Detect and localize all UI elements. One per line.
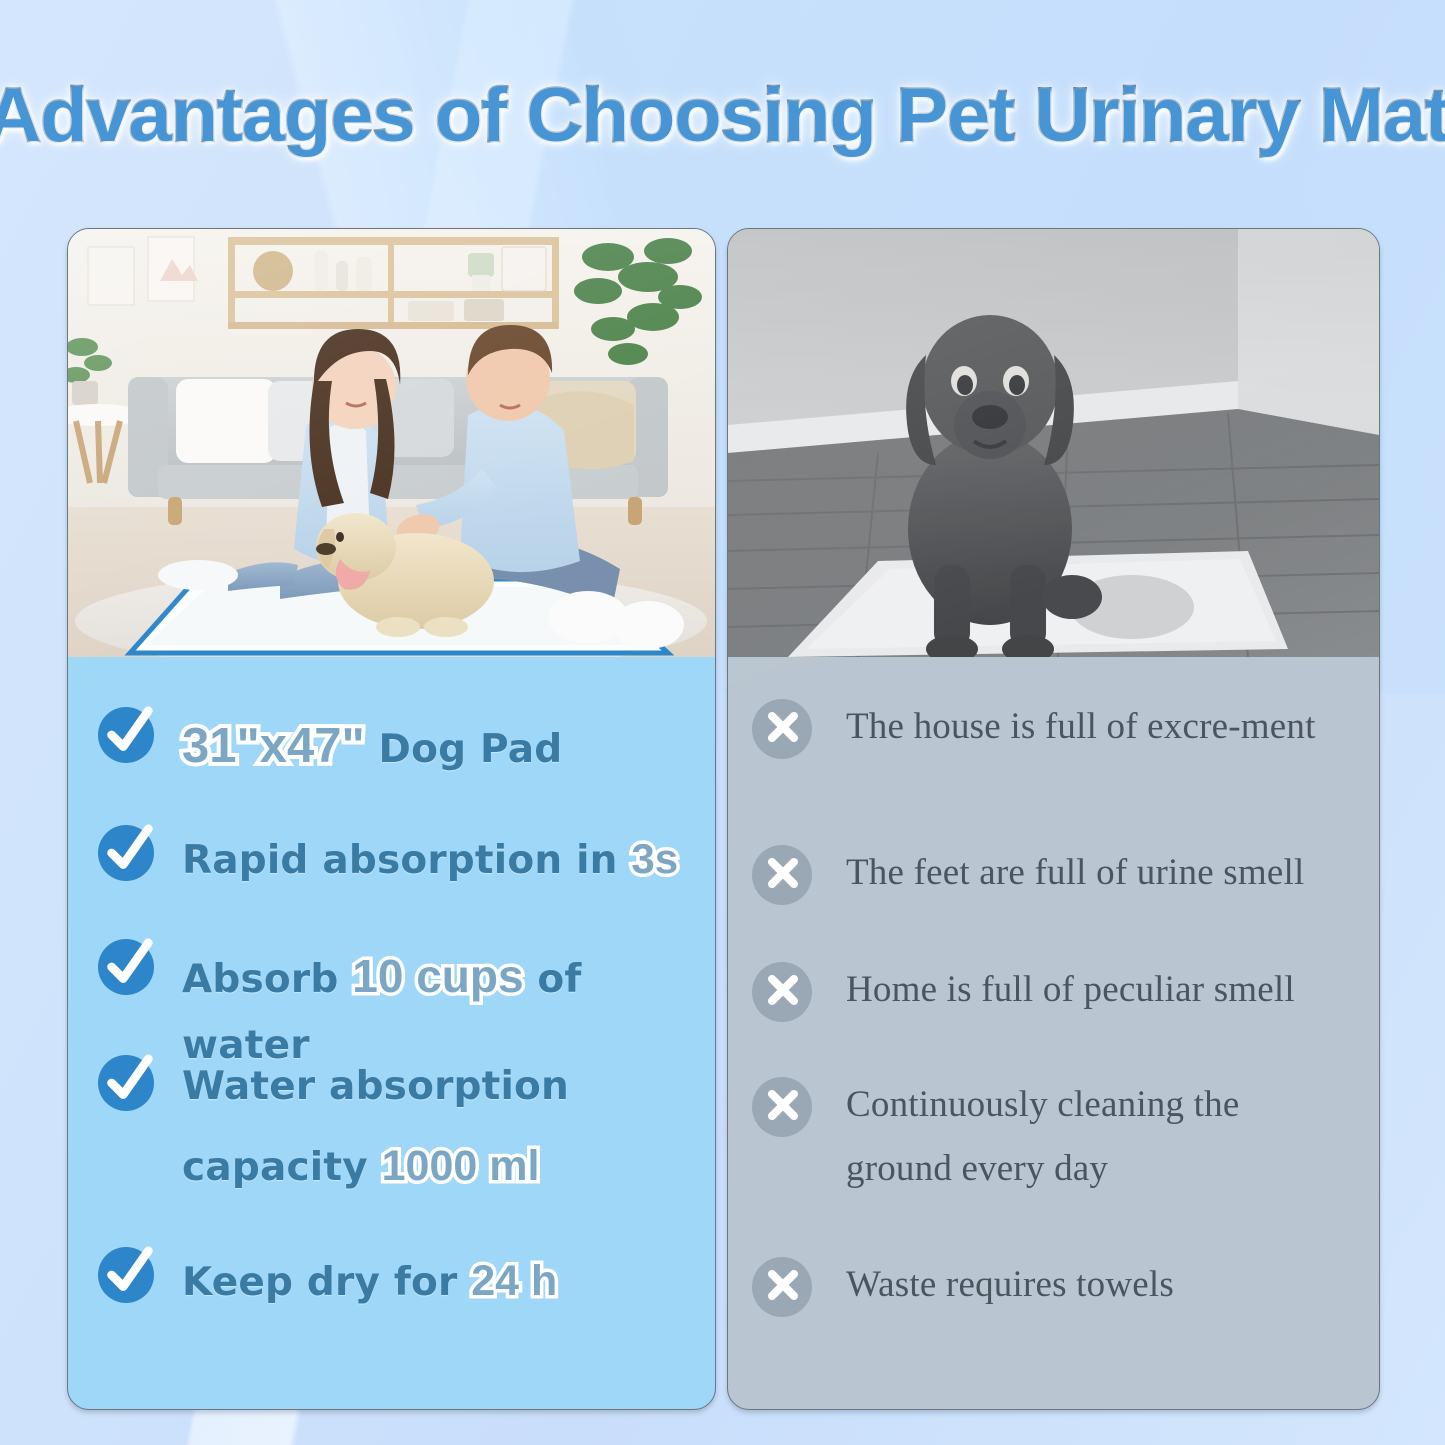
check-icon xyxy=(98,939,154,995)
list-item: The feet are full of urine smell xyxy=(752,845,1372,905)
list-item: 31"x47" Dog Pad xyxy=(98,707,698,786)
con-item-2: The feet are full of urine smell xyxy=(846,845,1304,901)
spec-volume-line1: Water absorption xyxy=(182,1055,569,1118)
spec-capacity-prefix: Absorb xyxy=(182,957,352,1002)
spec-absorption-value: 3s xyxy=(631,825,678,893)
list-item: Rapid absorption in 3s xyxy=(98,825,708,893)
x-icon xyxy=(752,845,812,905)
check-icon xyxy=(98,825,154,881)
x-icon xyxy=(752,1257,812,1317)
x-icon xyxy=(752,699,812,759)
con-item-4-line1: Continuously cleaning the xyxy=(846,1077,1239,1133)
advantages-panel: 31"x47" Dog Pad Rapid absorption in 3s A… xyxy=(67,228,716,1410)
con-item-1: The house is full of excre-ment xyxy=(846,699,1316,755)
spec-absorption-label: Rapid absorption in xyxy=(182,838,631,883)
couple-with-dog-illustration xyxy=(68,229,715,657)
spec-size-label: Dog Pad xyxy=(365,727,563,772)
list-item: Water absorption capacity 1000 ml xyxy=(98,1055,716,1202)
list-item: The house is full of excre-ment xyxy=(752,699,1372,759)
con-item-3: Home is full of peculiar smell xyxy=(846,962,1295,1018)
spec-capacity-cups: 10 cups xyxy=(352,939,523,1014)
disadvantages-panel: The house is full of excre-ment The feet… xyxy=(727,228,1380,1410)
puppy-on-pad-photo xyxy=(728,229,1379,657)
list-item: Home is full of peculiar smell xyxy=(752,962,1372,1022)
x-icon xyxy=(752,962,812,1022)
puppy-on-pad-illustration xyxy=(728,229,1379,657)
spec-dry-label: Keep dry for xyxy=(182,1260,471,1305)
disadvantages-list: The house is full of excre-ment The feet… xyxy=(728,657,1379,1409)
page-title: Advantages of Choosing Pet Urinary Mats xyxy=(0,72,1445,159)
spec-volume-label: capacity xyxy=(182,1145,382,1190)
list-item: Continuously cleaning the ground every d… xyxy=(752,1077,1372,1197)
list-item: Keep dry for 24 h xyxy=(98,1247,716,1317)
con-item-5: Waste requires towels xyxy=(846,1257,1174,1313)
spec-volume-value: 1000 ml xyxy=(382,1132,540,1202)
list-item: Waste requires towels xyxy=(752,1257,1372,1317)
couple-with-dog-photo xyxy=(68,229,715,657)
check-icon xyxy=(98,1055,154,1111)
spec-size-value: 31"x47" xyxy=(182,707,365,786)
con-item-4-line2: ground every day xyxy=(846,1141,1239,1197)
title-container: Advantages of Choosing Pet Urinary Mats xyxy=(0,72,1445,159)
advantages-list: 31"x47" Dog Pad Rapid absorption in 3s A… xyxy=(68,657,715,1409)
spec-dry-value: 24 h xyxy=(471,1247,557,1317)
x-icon xyxy=(752,1077,812,1137)
check-icon xyxy=(98,707,154,763)
check-icon xyxy=(98,1247,154,1303)
